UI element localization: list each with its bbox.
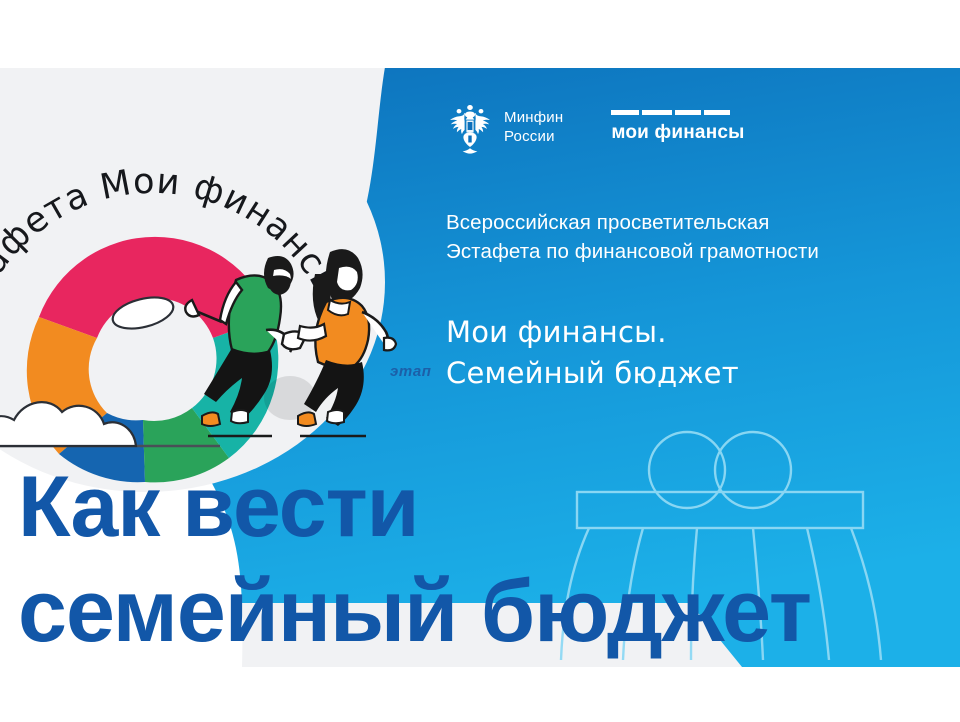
- poster: Эстафета Мои финансы: [0, 0, 960, 722]
- two-runners-illustration: [180, 230, 420, 445]
- moi-finansy-name: мои финансы: [611, 122, 744, 144]
- top-white-band: [0, 0, 960, 68]
- stage-block: этап Мои финансы. Семейный бюджет: [446, 312, 956, 394]
- russian-double-headed-eagle-emblem: [446, 99, 494, 155]
- stage-title: Мои финансы. Семейный бюджет: [446, 312, 956, 394]
- event-subtitle: Всероссийская просветительская Эстафета …: [446, 208, 956, 266]
- moi-finansy-logo: мои финансы: [611, 110, 744, 144]
- ministry-name: Минфин России: [504, 108, 563, 146]
- moi-finansy-dashes-icon: [611, 110, 744, 115]
- right-content-column: Минфин России мои финансы Всероссийская …: [446, 96, 956, 394]
- ground-cloud-shape: [0, 402, 136, 446]
- bottom-white-band: [0, 667, 960, 722]
- runner-woman: [298, 249, 396, 426]
- coin-purse-outline-icon: [545, 430, 945, 660]
- brand-row: Минфин России мои финансы: [446, 96, 956, 158]
- stage-label: этап: [390, 363, 432, 380]
